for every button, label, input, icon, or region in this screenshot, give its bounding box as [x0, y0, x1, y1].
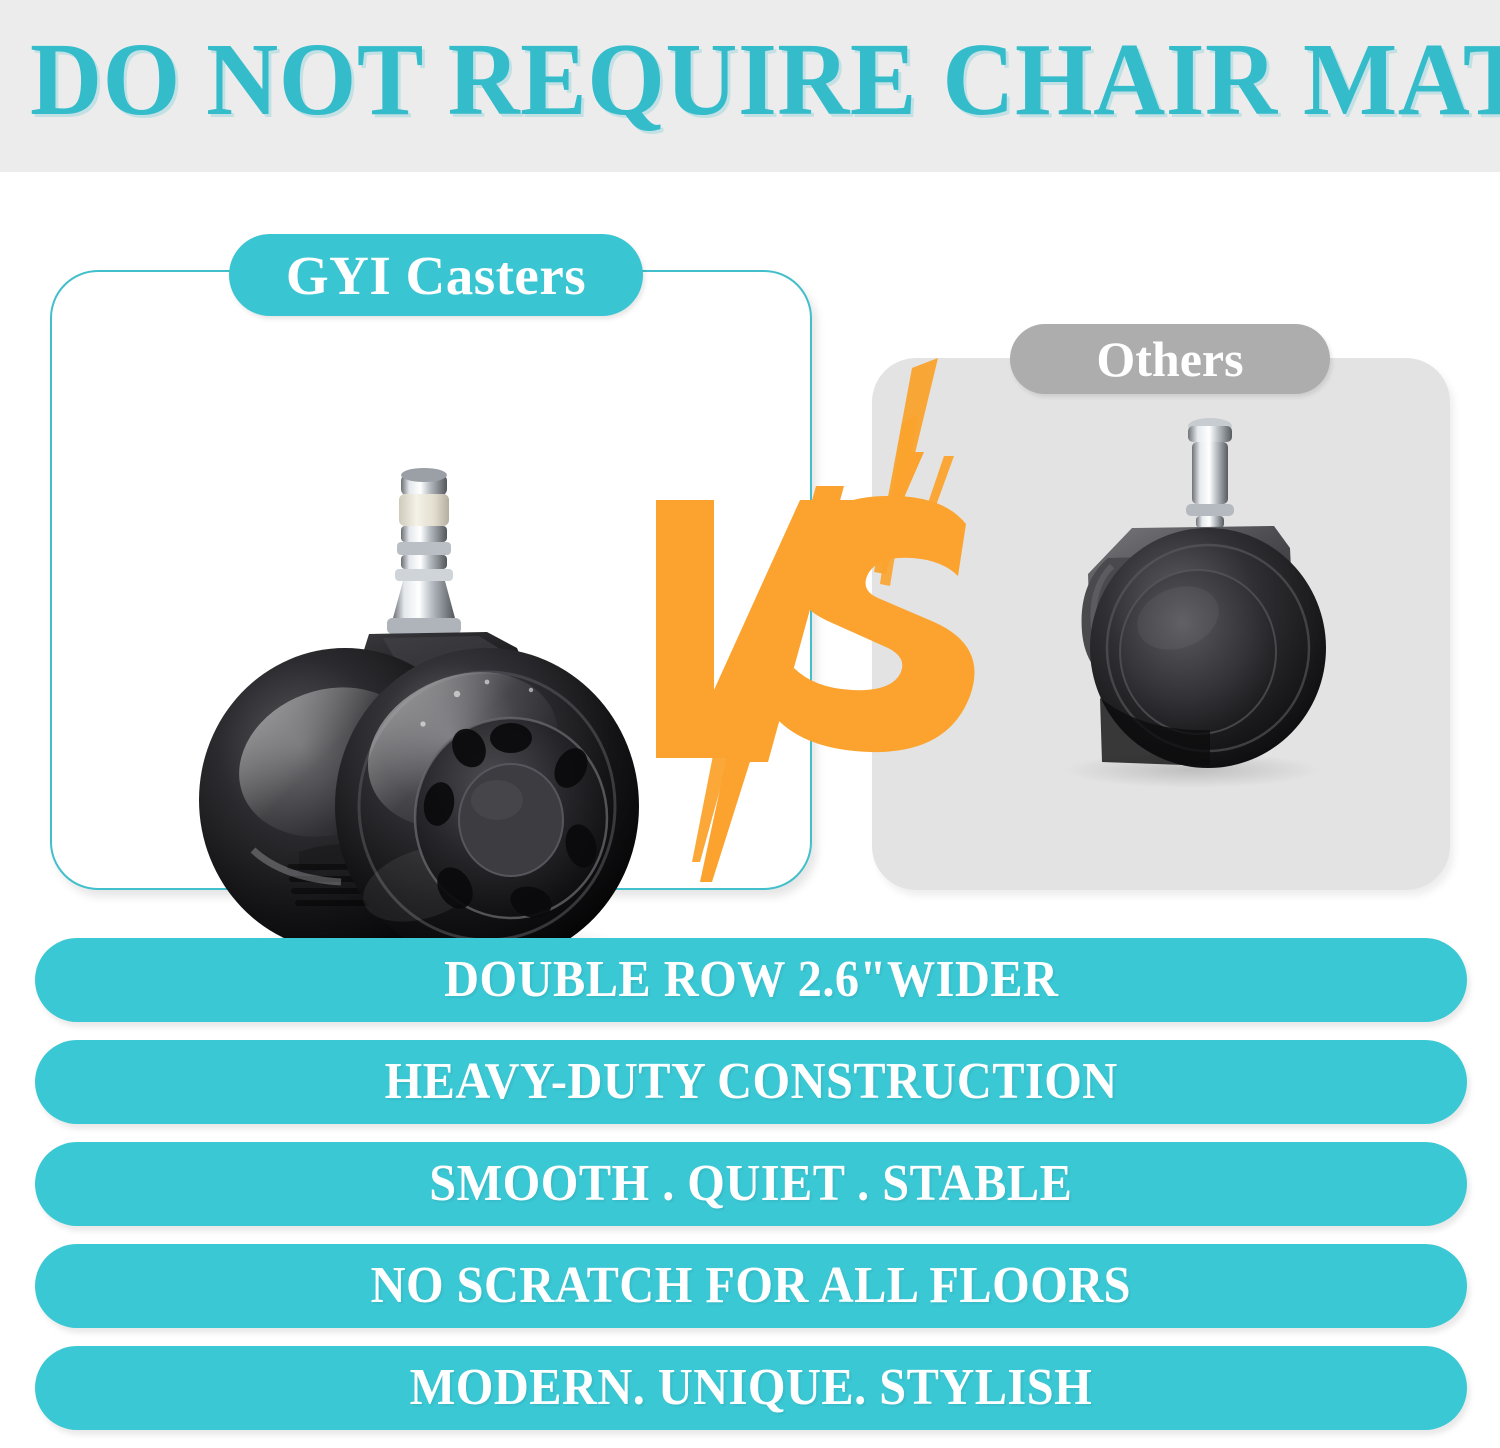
comparison-section: GYI Casters Others	[0, 172, 1500, 932]
others-caster-image	[1012, 398, 1342, 788]
feature-label: NO SCRATCH FOR ALL FLOORS	[371, 1258, 1131, 1314]
gyi-badge-label: GYI Casters	[286, 244, 586, 307]
feature-bar: DOUBLE ROW 2.6"WIDER	[35, 938, 1467, 1022]
feature-bar: MODERN. UNIQUE. STYLISH	[35, 1346, 1467, 1430]
others-caster-stem	[1186, 418, 1234, 528]
feature-label: DOUBLE ROW 2.6"WIDER	[444, 952, 1058, 1008]
others-product-card	[872, 358, 1450, 890]
feature-label: HEAVY-DUTY CONSTRUCTION	[384, 1054, 1117, 1110]
gyi-product-card	[50, 270, 812, 890]
page-title: DO NOT REQUIRE CHAIR MATS	[30, 28, 1470, 132]
feature-bar: HEAVY-DUTY CONSTRUCTION	[35, 1040, 1467, 1124]
feature-bar: NO SCRATCH FOR ALL FLOORS	[35, 1244, 1467, 1328]
others-badge-label: Others	[1096, 330, 1243, 388]
others-badge: Others	[1010, 324, 1330, 394]
infographic-root: DO NOT REQUIRE CHAIR MATS	[0, 0, 1500, 1448]
feature-list: DOUBLE ROW 2.6"WIDER HEAVY-DUTY CONSTRUC…	[0, 938, 1500, 1448]
caster-stem	[387, 468, 461, 634]
feature-label: MODERN. UNIQUE. STYLISH	[410, 1360, 1092, 1416]
feature-bar: SMOOTH . QUIET . STABLE	[35, 1142, 1467, 1226]
gyi-badge: GYI Casters	[229, 234, 643, 316]
feature-label: SMOOTH . QUIET . STABLE	[429, 1156, 1072, 1212]
gyi-caster-image	[187, 432, 667, 972]
